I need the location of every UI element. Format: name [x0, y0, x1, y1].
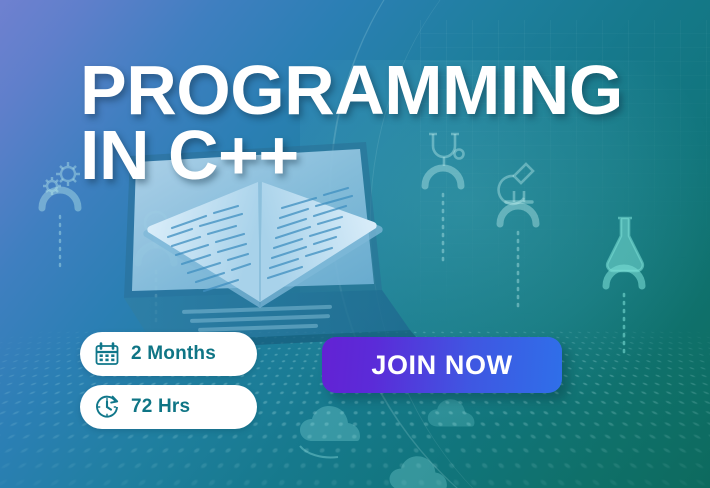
- calendar-icon: [94, 341, 120, 367]
- flask-icon: [596, 212, 654, 362]
- info-pill-duration-months: 2 Months: [80, 332, 257, 376]
- cloud-icon: [420, 398, 490, 444]
- info-pill-label: 2 Months: [131, 343, 216, 365]
- info-pill-label: 72 Hrs: [131, 396, 190, 418]
- clock-icon: [94, 394, 120, 420]
- info-pill-duration-hours: 72 Hrs: [80, 385, 257, 429]
- cloud-icon: [380, 455, 466, 488]
- cloud-icon: [290, 405, 380, 463]
- join-now-button[interactable]: JOIN NOW: [322, 337, 562, 393]
- page-title: PROGRAMMING IN C++: [80, 58, 623, 188]
- course-banner: PROGRAMMING IN C++ 2 Months: [0, 0, 710, 488]
